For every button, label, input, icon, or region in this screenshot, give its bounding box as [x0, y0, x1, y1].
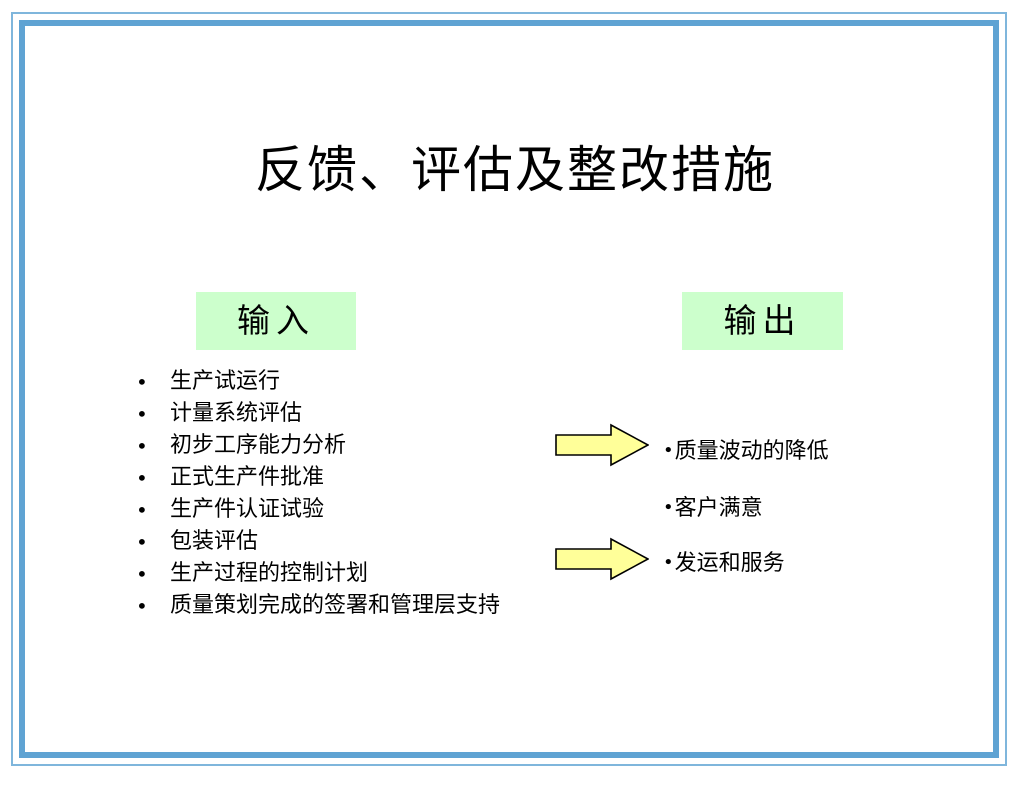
- list-item-label: 质量策划完成的签署和管理层支持: [170, 590, 500, 622]
- bullet-icon: •: [136, 590, 146, 622]
- bullet-icon: •: [136, 526, 146, 558]
- bullet-icon: •: [663, 440, 674, 461]
- bullet-icon: •: [136, 494, 146, 526]
- list-item-label: 客户满意: [675, 496, 763, 521]
- input-section-header: 输入: [196, 292, 356, 350]
- list-item: •质量波动的降低: [663, 437, 829, 466]
- list-item-label: 计量系统评估: [170, 398, 302, 430]
- list-item: • 生产过程的控制计划: [132, 558, 562, 590]
- list-item: •客户满意: [663, 494, 763, 523]
- input-items-list: • 生产试运行 • 计量系统评估 • 初步工序能力分析 • 正式生产件批准 • …: [132, 366, 562, 622]
- bullet-icon: •: [136, 462, 146, 494]
- page-title: 反馈、评估及整改措施: [0, 141, 1030, 199]
- list-item: • 生产试运行: [132, 366, 562, 398]
- list-item: • 质量策划完成的签署和管理层支持: [132, 590, 562, 622]
- list-item: • 包装评估: [132, 526, 562, 558]
- right-arrow-icon: [555, 537, 649, 581]
- list-item: • 计量系统评估: [132, 398, 562, 430]
- list-item-label: 生产过程的控制计划: [170, 558, 368, 590]
- list-item-label: 发运和服务: [675, 551, 785, 576]
- list-item-label: 包装评估: [170, 526, 258, 558]
- list-item: • 生产件认证试验: [132, 494, 562, 526]
- slide-content: 反馈、评估及整改措施 输入 输出 • 生产试运行 • 计量系统评估 • 初步工序…: [0, 0, 1030, 790]
- bullet-icon: •: [136, 398, 146, 430]
- bullet-icon: •: [136, 366, 146, 398]
- bullet-icon: •: [136, 558, 146, 590]
- list-item-label: 生产试运行: [170, 366, 280, 398]
- list-item: •发运和服务: [663, 549, 785, 578]
- list-item-label: 初步工序能力分析: [170, 430, 346, 462]
- bullet-icon: •: [136, 430, 146, 462]
- list-item-label: 正式生产件批准: [170, 462, 324, 494]
- bullet-icon: •: [663, 552, 674, 573]
- right-arrow-icon: [555, 423, 649, 467]
- list-item: • 正式生产件批准: [132, 462, 562, 494]
- output-section-header: 输出: [682, 292, 843, 350]
- list-item: • 初步工序能力分析: [132, 430, 562, 462]
- bullet-icon: •: [663, 497, 674, 518]
- list-item-label: 生产件认证试验: [170, 494, 324, 526]
- list-item-label: 质量波动的降低: [675, 439, 829, 464]
